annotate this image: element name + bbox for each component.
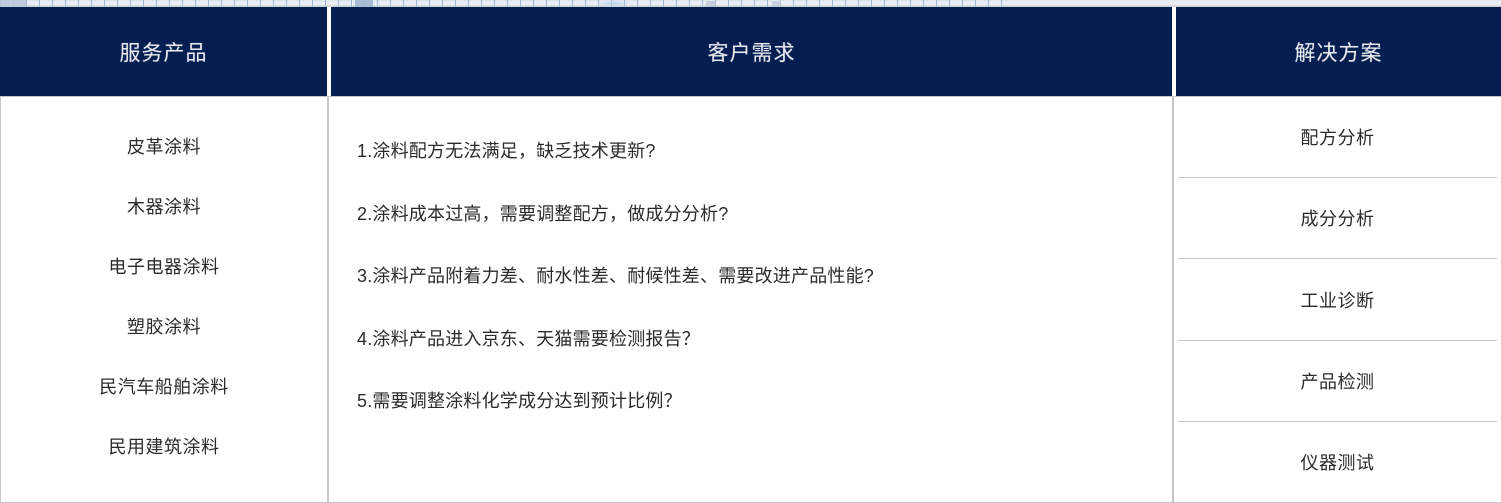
solution-list: 配方分析 成分分析 工业诊断 产品检测 仪器测试 bbox=[1174, 97, 1501, 502]
cell-solutions: 配方分析 成分分析 工业诊断 产品检测 仪器测试 bbox=[1173, 96, 1501, 503]
list-item[interactable]: 1.涂料配方无法满足，缺乏技术更新? bbox=[357, 141, 1144, 163]
list-item[interactable]: 配方分析 bbox=[1178, 97, 1497, 178]
ruler-tick-marks bbox=[0, 0, 1010, 7]
cell-customer-needs: 1.涂料配方无法满足，缺乏技术更新? 2.涂料成本过高，需要调整配方，做成分分析… bbox=[328, 96, 1173, 503]
list-item[interactable]: 2.涂料成本过高，需要调整配方，做成分分析? bbox=[357, 204, 1144, 226]
service-matrix-table: 服务产品 客户需求 解决方案 皮革涂料 木器涂料 电子电器涂料 塑胶涂料 民汽车… bbox=[0, 7, 1501, 503]
table-grid: 服务产品 客户需求 解决方案 皮革涂料 木器涂料 电子电器涂料 塑胶涂料 民汽车… bbox=[0, 7, 1501, 503]
ruler-right-indent-marker[interactable] bbox=[355, 0, 373, 7]
table-header-row: 服务产品 客户需求 解决方案 bbox=[0, 7, 1501, 96]
cell-service-products: 皮革涂料 木器涂料 电子电器涂料 塑胶涂料 民汽车船舶涂料 民用建筑涂料 bbox=[0, 96, 328, 503]
list-item[interactable]: 5.需要调整涂料化学成分达到预计比例？ bbox=[357, 391, 1144, 413]
list-item[interactable]: 皮革涂料 bbox=[127, 117, 201, 177]
list-item[interactable]: 塑胶涂料 bbox=[127, 297, 201, 357]
list-item[interactable]: 产品检测 bbox=[1178, 341, 1497, 422]
list-item[interactable]: 木器涂料 bbox=[127, 177, 201, 237]
column-header-label: 客户需求 bbox=[708, 37, 796, 67]
list-item[interactable]: 3.涂料产品附着力差、耐水性差、耐候性差、需要改进产品性能? bbox=[357, 266, 1144, 288]
table-body-row: 皮革涂料 木器涂料 电子电器涂料 塑胶涂料 民汽车船舶涂料 民用建筑涂料 1.涂… bbox=[0, 96, 1501, 503]
list-item[interactable]: 工业诊断 bbox=[1178, 259, 1497, 340]
customer-need-list: 1.涂料配方无法满足，缺乏技术更新? 2.涂料成本过高，需要调整配方，做成分分析… bbox=[329, 97, 1172, 502]
list-item[interactable]: 4.涂料产品进入京东、天猫需要检测报告？ bbox=[357, 329, 1144, 351]
list-item[interactable]: 电子电器涂料 bbox=[109, 237, 220, 297]
column-header-customer-needs[interactable]: 客户需求 bbox=[331, 7, 1172, 96]
list-item[interactable]: 仪器测试 bbox=[1178, 422, 1497, 502]
service-product-list: 皮革涂料 木器涂料 电子电器涂料 塑胶涂料 民汽车船舶涂料 民用建筑涂料 bbox=[1, 97, 327, 502]
column-header-service-products[interactable]: 服务产品 bbox=[0, 7, 327, 96]
ruler-left-indent-marker[interactable] bbox=[0, 0, 26, 7]
list-item[interactable]: 民用建筑涂料 bbox=[109, 417, 220, 477]
toolbar-glyph-remnant-a bbox=[596, 0, 630, 7]
column-header-label: 解决方案 bbox=[1295, 37, 1383, 67]
column-header-label: 服务产品 bbox=[120, 37, 208, 67]
list-item[interactable]: 民汽车船舶涂料 bbox=[99, 357, 229, 417]
list-item[interactable]: 成分分析 bbox=[1178, 178, 1497, 259]
column-header-solutions[interactable]: 解决方案 bbox=[1176, 7, 1501, 96]
document-ruler[interactable] bbox=[0, 0, 1501, 7]
